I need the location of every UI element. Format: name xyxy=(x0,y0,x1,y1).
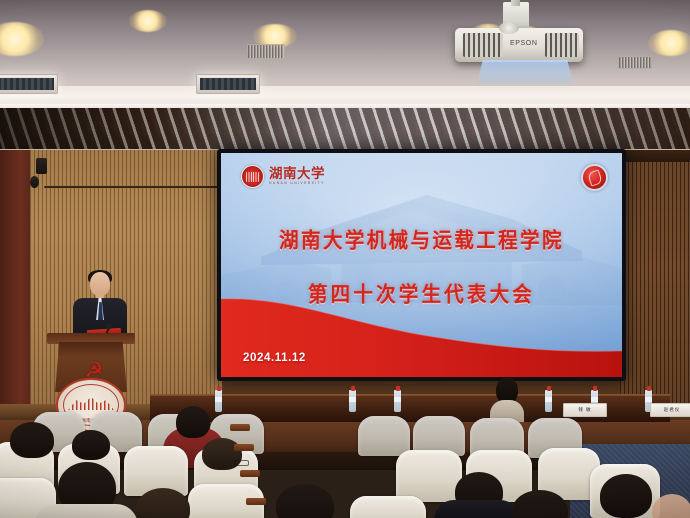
audience-person-head xyxy=(176,406,210,438)
presentation-slide: 湖南大学 HUNAN UNIVERSITY 湖南大学机械与运载工程学院 第四十次… xyxy=(221,153,622,377)
projector-pole xyxy=(511,0,520,6)
audience-chair xyxy=(358,416,410,456)
logo-wordmark: 湖南大学 HUNAN UNIVERSITY xyxy=(269,167,325,185)
audience-glasses-icon xyxy=(604,500,623,506)
wall-rail xyxy=(44,186,220,188)
audience-chair xyxy=(396,450,462,502)
ceiling-light-panel xyxy=(196,74,260,94)
air-vent xyxy=(247,44,285,59)
audience-person-head xyxy=(600,474,652,518)
projector-vent-right xyxy=(545,33,579,57)
audience-person-shoulders xyxy=(34,504,138,518)
audience-chair xyxy=(350,496,426,518)
audience-person-head xyxy=(276,484,334,518)
hunan-university-seal-icon xyxy=(241,165,264,188)
projection-screen[interactable]: 湖南大学 HUNAN UNIVERSITY 湖南大学机械与运载工程学院 第四十次… xyxy=(217,149,626,381)
student-union-emblem-icon xyxy=(581,164,608,191)
ceiling-projector: EPSON xyxy=(455,18,583,76)
slide-red-wave-graphic xyxy=(221,291,622,377)
hunan-university-logo: 湖南大学 HUNAN UNIVERSITY xyxy=(241,165,325,188)
ceiling-light xyxy=(129,10,167,32)
wall-panel-right xyxy=(620,150,690,420)
audience-person-shoulders xyxy=(434,500,520,518)
slide-date: 2024.11.12 xyxy=(243,352,306,364)
audience-glasses-icon xyxy=(234,460,249,466)
seat-armrest xyxy=(246,498,266,505)
air-vent xyxy=(618,56,652,69)
wall-left-trim xyxy=(0,150,34,420)
seat-armrest xyxy=(234,444,254,451)
projector-brand-label: EPSON xyxy=(510,40,538,47)
projector-vent-left xyxy=(463,33,503,57)
wall-speaker xyxy=(36,158,47,174)
slide-title: 湖南大学机械与运载工程学院 xyxy=(221,223,622,254)
logo-english-name: HUNAN UNIVERSITY xyxy=(269,182,325,185)
audience-person-head xyxy=(72,430,110,460)
projector-lens xyxy=(499,22,519,34)
audience-person-head xyxy=(652,494,690,518)
auditorium-photo: EPSON xyxy=(0,0,690,518)
projector-beam xyxy=(477,60,573,84)
seat-armrest xyxy=(240,470,260,477)
ceiling-light xyxy=(648,30,690,56)
audience-area xyxy=(0,400,690,518)
wall-right-trim xyxy=(620,150,690,162)
wall-speaker xyxy=(30,176,39,188)
logo-chinese-name: 湖南大学 xyxy=(269,167,325,181)
audience-person-head xyxy=(10,422,54,458)
seat-armrest xyxy=(230,424,250,431)
ceiling-light-panel xyxy=(0,74,58,94)
